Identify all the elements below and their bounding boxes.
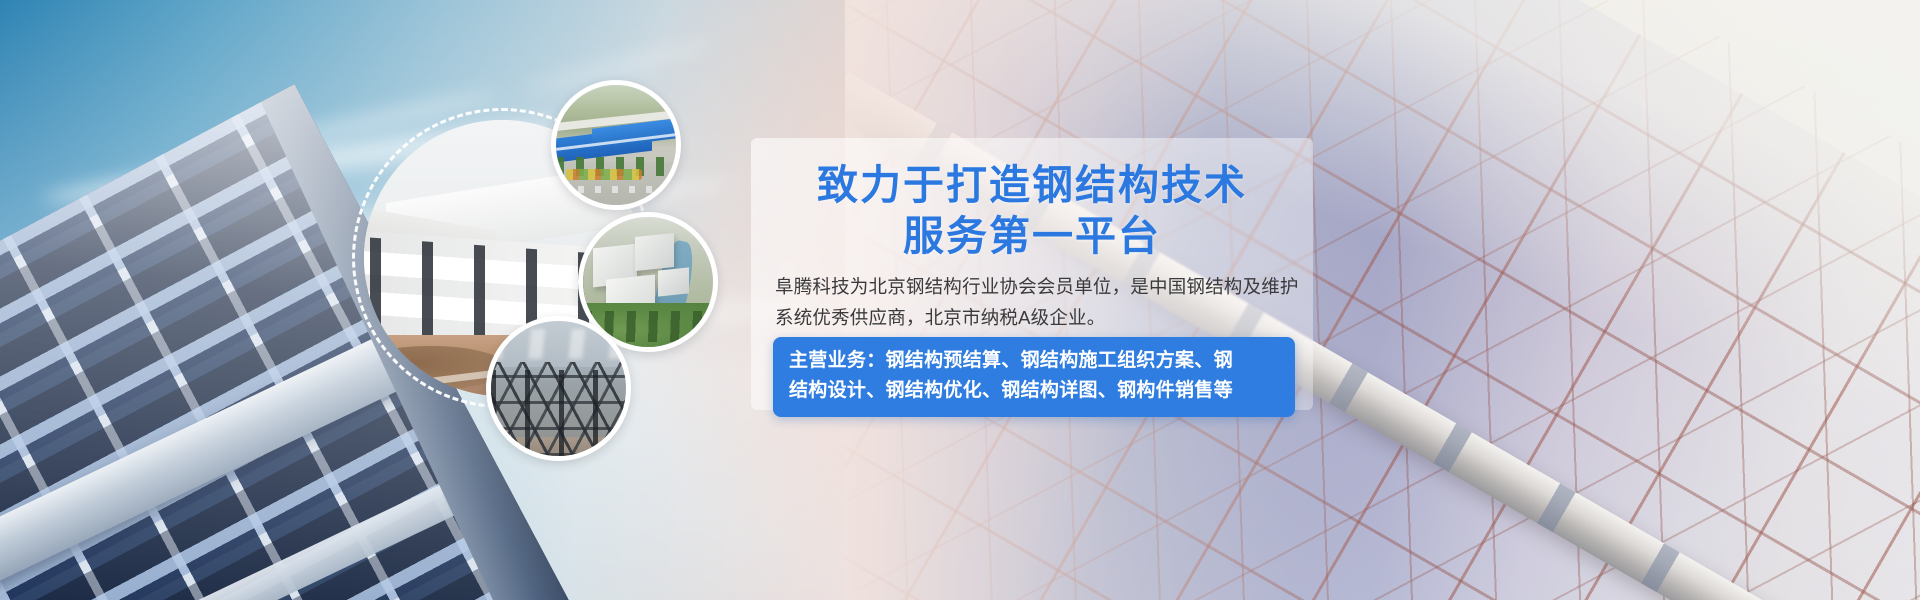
page-title: 致力于打造钢结构技术 服务第一平台 xyxy=(751,160,1313,262)
photo-building xyxy=(658,267,689,296)
headline-line-1: 致力于打造钢结构技术 xyxy=(751,160,1313,211)
photo-cars xyxy=(561,186,669,193)
banner-description: 阜腾科技为北京钢结构行业协会会员单位，是中国钢结构及维护系统优秀供应商，北京市纳… xyxy=(775,271,1303,333)
headline-line-2: 服务第一平台 xyxy=(751,211,1313,262)
aerial-factory-photo xyxy=(556,85,676,205)
photo-building xyxy=(635,233,674,271)
thumb-photo-aerial-factory xyxy=(551,80,681,210)
steel-truss-photo xyxy=(491,321,626,456)
main-services-callout[interactable]: 主营业务：钢结构预结算、钢结构施工组织方案、钢 结构设计、钢结构优化、钢结构详图… xyxy=(773,337,1295,417)
services-line-1: 主营业务：钢结构预结算、钢结构施工组织方案、钢 xyxy=(789,346,1279,376)
services-line-2: 结构设计、钢结构优化、钢结构详图、钢构件销售等 xyxy=(789,376,1279,406)
photo-flower-bed xyxy=(566,169,643,180)
thumb-photo-steel-truss xyxy=(486,316,631,461)
photo-steel-columns xyxy=(491,370,626,456)
hero-banner: 致力于打造钢结构技术 服务第一平台 阜腾科技为北京钢结构行业协会会员单位，是中国… xyxy=(0,0,1920,600)
photo-clouds xyxy=(491,329,626,359)
